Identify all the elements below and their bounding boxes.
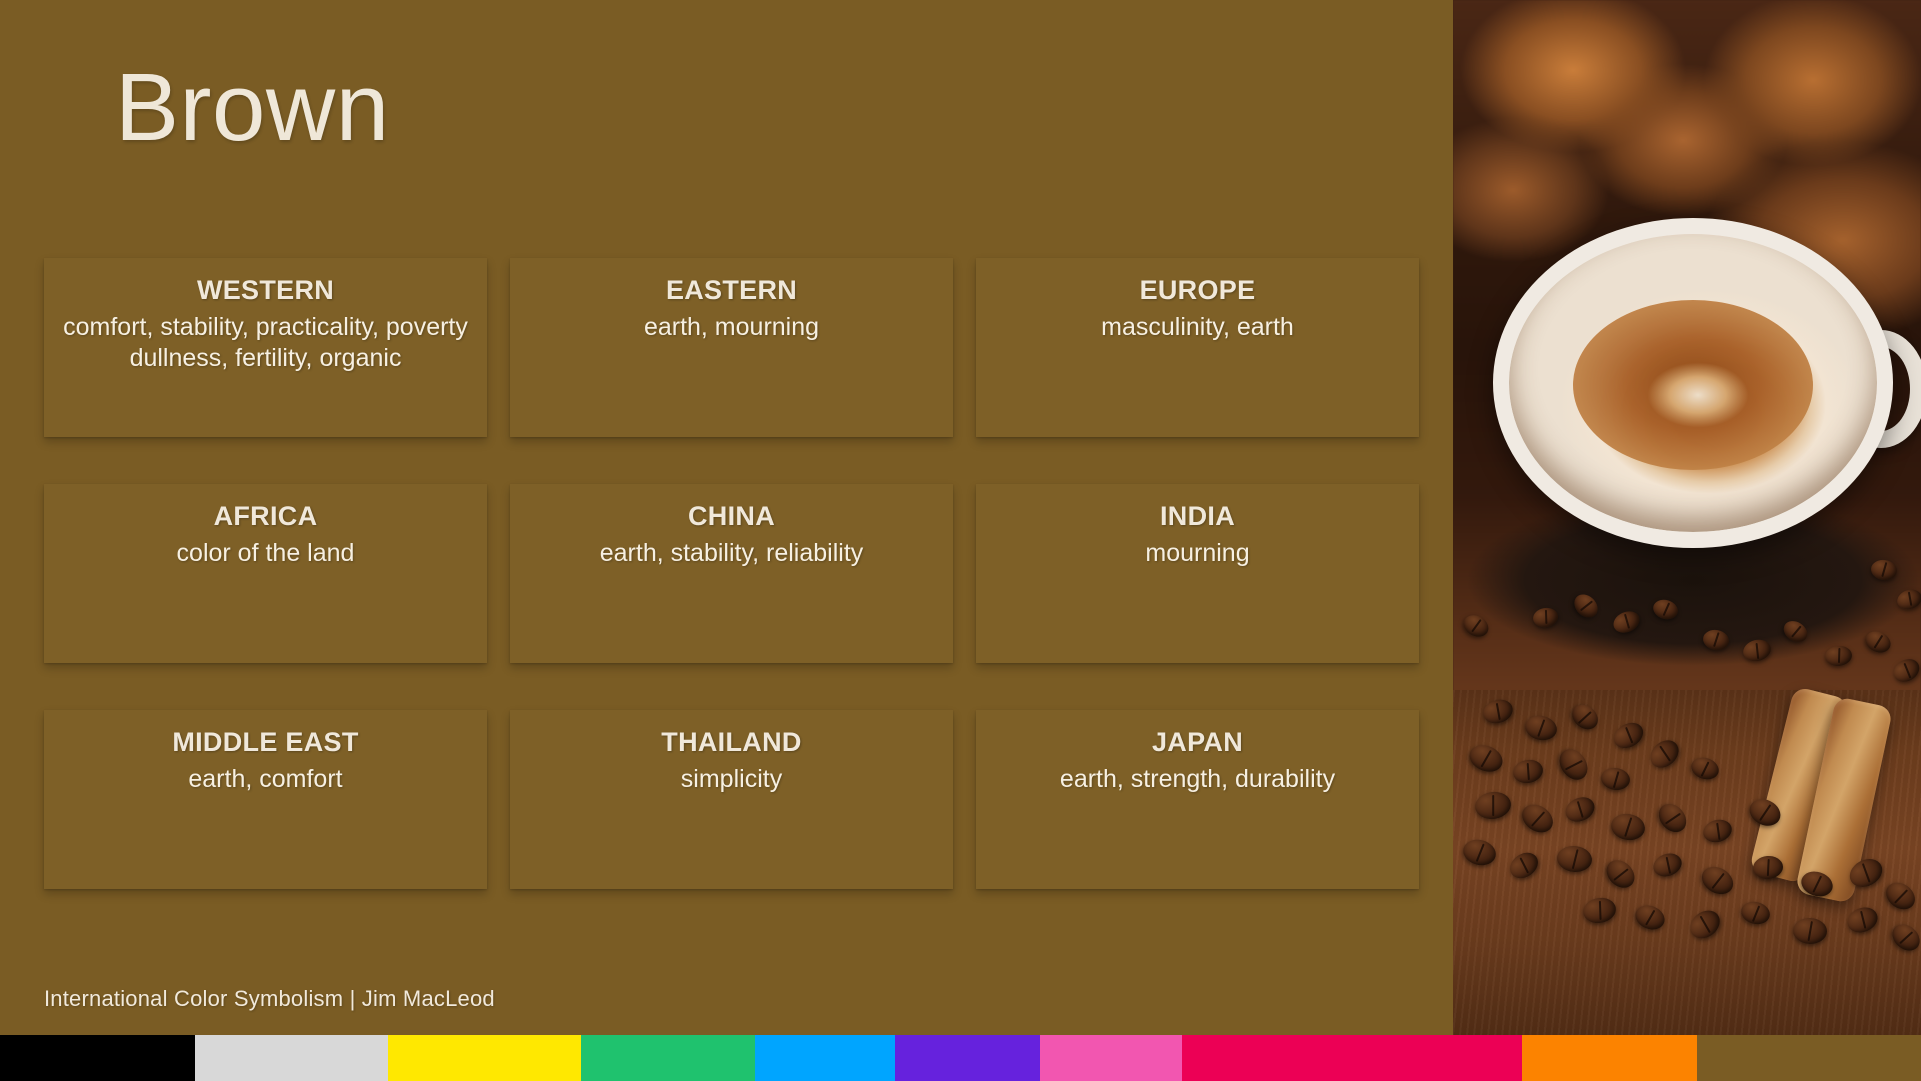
color-swatch-pink [1040, 1035, 1182, 1081]
color-swatch-purple [895, 1035, 1040, 1081]
card-title: THAILAND [528, 726, 935, 760]
color-swatch-crimson [1182, 1035, 1522, 1081]
card-africa[interactable]: AFRICA color of the land [44, 484, 487, 663]
card-western[interactable]: WESTERN comfort, stability, practicality… [44, 258, 487, 437]
card-title: CHINA [528, 500, 935, 534]
card-meanings: simplicity [528, 764, 935, 795]
page-title: Brown [115, 58, 390, 159]
card-title: WESTERN [62, 274, 469, 308]
card-title: JAPAN [994, 726, 1401, 760]
color-swatch-green [581, 1035, 755, 1081]
color-swatch-orange [1522, 1035, 1697, 1081]
coffee-photo [1453, 0, 1921, 1035]
footer-credit: International Color Symbolism | Jim MacL… [44, 986, 495, 1012]
symbolism-card-grid: WESTERN comfort, stability, practicality… [44, 258, 1419, 889]
card-meanings: mourning [994, 538, 1401, 569]
color-palette-strip [0, 1035, 1921, 1081]
card-middle-east[interactable]: MIDDLE EAST earth, comfort [44, 710, 487, 889]
card-meanings: earth, stability, reliability [528, 538, 935, 569]
card-thailand[interactable]: THAILAND simplicity [510, 710, 953, 889]
slide-canvas: Brown WESTERN comfort, stability, practi… [0, 0, 1921, 1081]
card-china[interactable]: CHINA earth, stability, reliability [510, 484, 953, 663]
card-meanings: comfort, stability, practicality, povert… [62, 312, 469, 374]
card-meanings: masculinity, earth [994, 312, 1401, 343]
card-europe[interactable]: EUROPE masculinity, earth [976, 258, 1419, 437]
card-title: INDIA [994, 500, 1401, 534]
color-swatch-light-gray [195, 1035, 388, 1081]
card-meanings: earth, comfort [62, 764, 469, 795]
card-meanings: color of the land [62, 538, 469, 569]
card-india[interactable]: INDIA mourning [976, 484, 1419, 663]
card-title: EUROPE [994, 274, 1401, 308]
card-eastern[interactable]: EASTERN earth, mourning [510, 258, 953, 437]
color-swatch-brown [1697, 1035, 1921, 1081]
photo-coffee-crema [1573, 300, 1813, 470]
content-panel: Brown WESTERN comfort, stability, practi… [0, 0, 1453, 1035]
card-title: AFRICA [62, 500, 469, 534]
card-title: MIDDLE EAST [62, 726, 469, 760]
card-japan[interactable]: JAPAN earth, strength, durability [976, 710, 1419, 889]
color-swatch-black [0, 1035, 195, 1081]
color-swatch-blue [755, 1035, 895, 1081]
color-swatch-yellow [388, 1035, 581, 1081]
card-title: EASTERN [528, 274, 935, 308]
card-meanings: earth, strength, durability [994, 764, 1401, 795]
card-meanings: earth, mourning [528, 312, 935, 343]
